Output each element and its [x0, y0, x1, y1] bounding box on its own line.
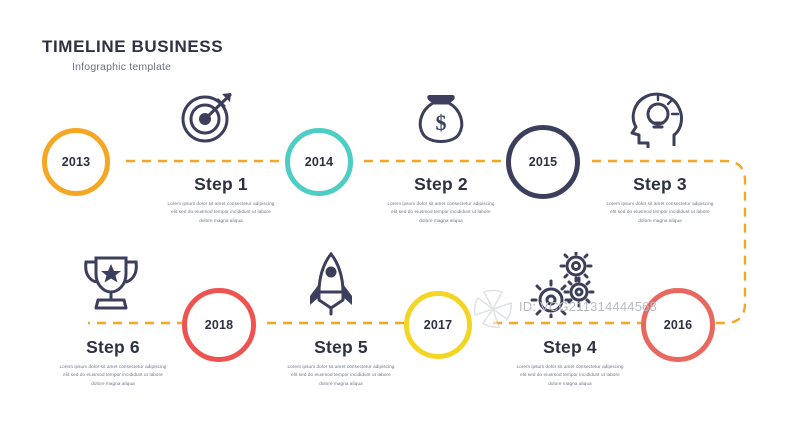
milestone-year-2017: 2017 [424, 318, 453, 332]
step-block-1: Step 1 Lorem ipsum dolor sit amet consec… [165, 174, 277, 225]
page-title: TIMELINE BUSINESS [42, 37, 223, 57]
milestone-year-2015: 2015 [529, 155, 558, 169]
target-icon [178, 90, 240, 146]
step-body-4: Lorem ipsum dolor sit amet consectetur a… [514, 363, 626, 388]
step-body-3: Lorem ipsum dolor sit amet consectetur a… [604, 200, 716, 225]
step-title-2: Step 2 [385, 174, 497, 195]
trophy-icon [80, 254, 142, 312]
step-block-5: Step 5 Lorem ipsum dolor sit amet consec… [285, 337, 397, 388]
page-subtitle: Infographic template [72, 61, 171, 73]
step-title-3: Step 3 [604, 174, 716, 195]
milestone-circle-2017[interactable]: 2017 [404, 291, 472, 359]
milestone-circle-2015[interactable]: 2015 [506, 125, 580, 199]
infographic-canvas: TIMELINE BUSINESS Infographic template 2… [0, 0, 800, 443]
step-body-5: Lorem ipsum dolor sit amet consectetur a… [285, 363, 397, 388]
svg-text:$: $ [436, 110, 447, 135]
step-title-5: Step 5 [285, 337, 397, 358]
step-title-1: Step 1 [165, 174, 277, 195]
rocket-icon [307, 252, 355, 316]
step-block-2: Step 2 Lorem ipsum dolor sit amet consec… [385, 174, 497, 225]
step-block-6: Step 6 Lorem ipsum dolor sit amet consec… [57, 337, 169, 388]
milestone-circle-2014[interactable]: 2014 [285, 128, 353, 196]
step-body-1: Lorem ipsum dolor sit amet consectetur a… [165, 200, 277, 225]
milestone-year-2014: 2014 [305, 155, 334, 169]
step-body-2: Lorem ipsum dolor sit amet consectetur a… [385, 200, 497, 225]
step-title-4: Step 4 [514, 337, 626, 358]
watermark-id: ID: VCG211314444568 [519, 299, 657, 314]
watermark-logo-icon [470, 286, 516, 332]
milestone-year-2018: 2018 [205, 318, 234, 332]
milestone-year-2016: 2016 [664, 318, 693, 332]
step-body-6: Lorem ipsum dolor sit amet consectetur a… [57, 363, 169, 388]
head-idea-icon [628, 88, 688, 150]
milestone-circle-2018[interactable]: 2018 [182, 288, 256, 362]
step-title-6: Step 6 [57, 337, 169, 358]
milestone-year-2013: 2013 [62, 155, 91, 169]
milestone-circle-2013[interactable]: 2013 [42, 128, 110, 196]
money-bag-icon: $ [413, 92, 469, 148]
step-block-3: Step 3 Lorem ipsum dolor sit amet consec… [604, 174, 716, 225]
step-block-4: Step 4 Lorem ipsum dolor sit amet consec… [514, 337, 626, 388]
